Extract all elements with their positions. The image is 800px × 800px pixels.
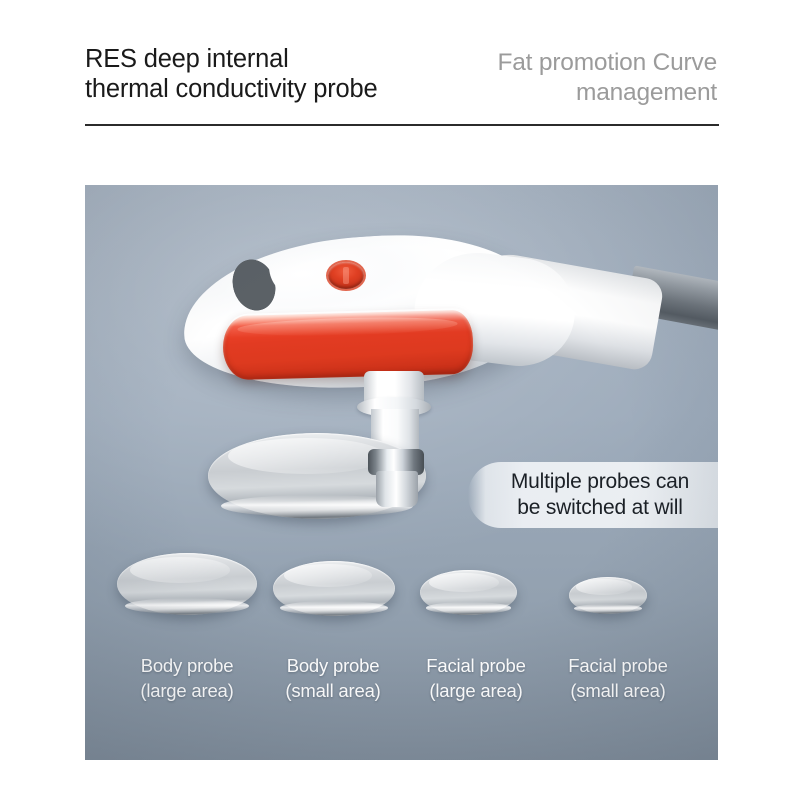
probe-disc-body-small: [273, 561, 395, 616]
product-marketing-image: RES deep internal thermal conductivity p…: [0, 0, 800, 800]
callout-badge: Multiple probes can be switched at will: [468, 462, 718, 528]
product-photo-panel: Multiple probes can be switched at will …: [85, 185, 718, 760]
header-divider: [85, 124, 719, 126]
callout-text: Multiple probes can be switched at will: [497, 469, 689, 521]
probe-disc-facial-small: [569, 577, 647, 614]
red-accent-panel: [222, 310, 474, 381]
probe-disc-facial-large: [420, 570, 517, 615]
page-title: RES deep internal thermal conductivity p…: [85, 44, 465, 104]
probe-label-body-large: Body probe (large area): [107, 653, 267, 703]
header: RES deep internal thermal conductivity p…: [85, 44, 719, 126]
probe-disc-body-large: [117, 553, 257, 615]
probe-label-body-small: Body probe (small area): [253, 653, 413, 703]
probe-label-facial-large: Facial probe (large area): [396, 653, 556, 703]
page-subtitle: Fat promotion Curve management: [417, 48, 717, 108]
probe-label-facial-small: Facial probe (small area): [538, 653, 698, 703]
power-button[interactable]: [328, 262, 364, 289]
device-stem-foot: [376, 471, 418, 507]
